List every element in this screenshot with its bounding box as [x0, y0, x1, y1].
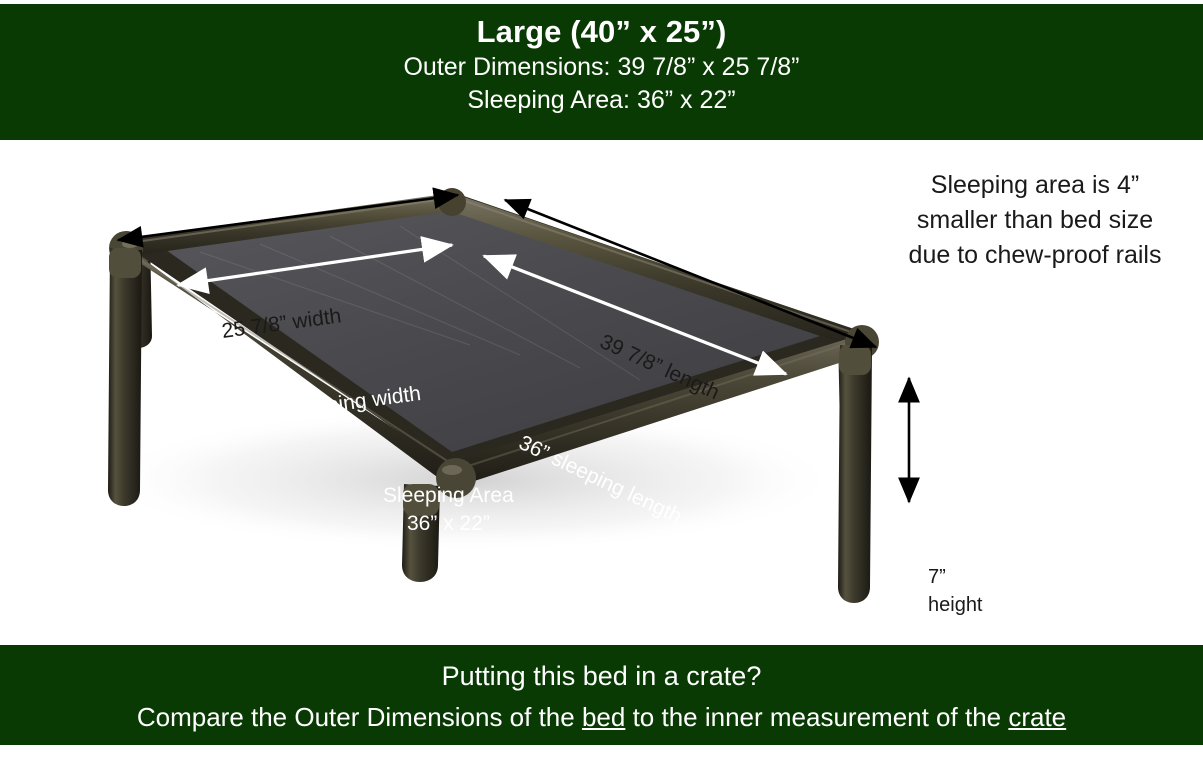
label-height-word: height: [928, 591, 983, 619]
label-sleeping-area: Sleeping Area 36” x 22”: [383, 482, 514, 538]
side-note-line-3: due to chew-proof rails: [872, 238, 1198, 273]
side-note-line-2: smaller than bed size: [872, 203, 1198, 238]
crate-advice-crate: crate: [1008, 702, 1066, 732]
header-banner: Large (40” x 25”) Outer Dimensions: 39 7…: [0, 4, 1203, 140]
sleeping-area-text: Sleeping Area: 36” x 22”: [0, 84, 1203, 117]
chew-proof-rails-note: Sleeping area is 4” smaller than bed siz…: [872, 168, 1198, 273]
crate-advice-part1: Compare the Outer Dimensions of the: [137, 702, 582, 732]
outer-dimensions-text: Outer Dimensions: 39 7/8” x 25 7/8”: [0, 51, 1203, 84]
crate-question: Putting this bed in a crate?: [0, 655, 1203, 697]
label-height: 7” height: [928, 563, 983, 619]
crate-advice: Compare the Outer Dimensions of the bed …: [0, 697, 1203, 737]
label-sleeping-area-line1: Sleeping Area: [383, 482, 514, 510]
crate-advice-part2: to the inner measurement of the: [625, 702, 1008, 732]
footer-banner: Putting this bed in a crate? Compare the…: [0, 645, 1203, 745]
page-title: Large (40” x 25”): [0, 13, 1203, 51]
label-sleeping-area-line2: 36” x 22”: [383, 510, 514, 538]
crate-advice-bed: bed: [582, 702, 625, 732]
corner-joint-back: [438, 188, 466, 216]
dog-bed-size-infographic: Large (40” x 25”) Outer Dimensions: 39 7…: [0, 0, 1203, 758]
bed-leg-front-left: [108, 248, 142, 506]
side-note-line-1: Sleeping area is 4”: [872, 168, 1198, 203]
label-height-value: 7”: [928, 563, 983, 591]
bed-leg-front-right: [838, 345, 872, 603]
